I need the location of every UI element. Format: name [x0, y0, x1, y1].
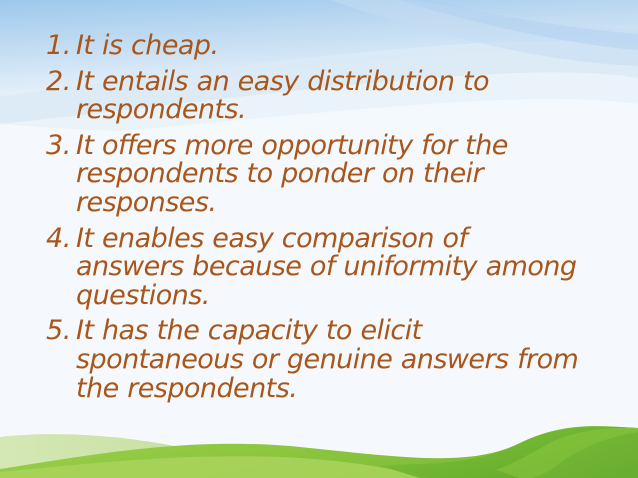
list-item: 2. It entails an easy distribution to re…	[46, 68, 598, 125]
list-item: 1. It is cheap.	[46, 32, 598, 61]
list-item-number: 5.	[46, 317, 76, 346]
list-item-number: 1.	[46, 32, 76, 61]
list-item-number: 3.	[46, 132, 76, 161]
list-item-text: It has the capacity to elicit spontaneou…	[76, 317, 581, 403]
list-item-number: 4.	[46, 225, 76, 254]
list-item-text: It is cheap.	[76, 32, 581, 61]
presentation-slide: 1. It is cheap. 2. It entails an easy di…	[0, 0, 638, 478]
list-item-number: 2.	[46, 68, 76, 97]
list-item-text: It enables easy comparison of answers be…	[76, 225, 581, 311]
bullet-list: 1. It is cheap. 2. It entails an easy di…	[0, 0, 638, 478]
list-item: 4. It enables easy comparison of answers…	[46, 225, 598, 311]
list-item-text: It entails an easy distribution to respo…	[76, 68, 581, 125]
list-item-text: It offers more opportunity for the respo…	[76, 132, 581, 218]
list-item: 3. It offers more opportunity for the re…	[46, 132, 598, 218]
list-item: 5. It has the capacity to elicit spontan…	[46, 317, 598, 403]
